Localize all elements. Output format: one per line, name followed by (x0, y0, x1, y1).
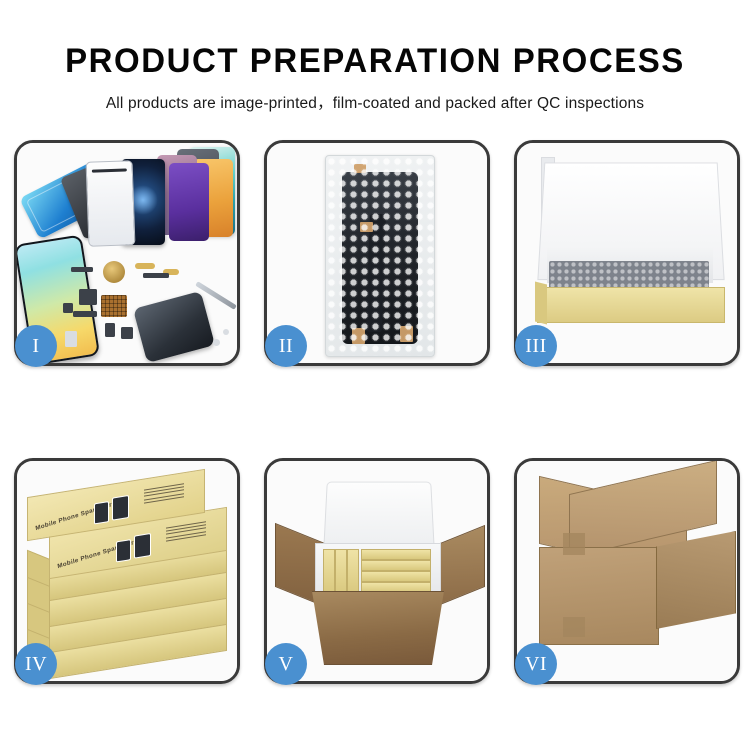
page-subtitle: All products are image-printed，film-coat… (0, 91, 750, 113)
sim-tray-part (65, 331, 77, 347)
flex-cable-part (71, 267, 93, 272)
process-step-4[interactable]: Mobile Phone Spare Parts Mobile Phone Sp… (14, 458, 240, 684)
carton-tape-seam (563, 617, 585, 637)
step-badge-2: II (265, 325, 307, 367)
bubble-texture (326, 156, 434, 356)
speaker-part (103, 261, 125, 283)
packed-box (361, 571, 431, 582)
carton-front-face (539, 547, 659, 645)
process-step-2[interactable]: II (264, 140, 490, 366)
packed-box (347, 549, 359, 595)
page-header: PRODUCT PREPARATION PROCESS All products… (0, 0, 750, 113)
process-step-5[interactable]: V (264, 458, 490, 684)
box-base-side (535, 282, 547, 325)
step-badge-6: VI (515, 643, 557, 685)
phone-back-housing (133, 291, 215, 363)
packed-box (361, 549, 431, 560)
phone-screen-white (86, 160, 136, 247)
process-step-6[interactable]: VI (514, 458, 740, 684)
carton-tape-seam (563, 533, 585, 555)
screw-part (213, 339, 220, 346)
page-title: PRODUCT PREPARATION PROCESS (11, 44, 739, 78)
antenna-part (143, 273, 169, 278)
bubble-wrap-bag (325, 155, 435, 357)
camera-module-part (79, 289, 97, 305)
process-step-1[interactable]: I (14, 140, 240, 366)
box-label-lines (166, 521, 206, 543)
step-badge-3: III (515, 325, 557, 367)
box-label-phone-image (94, 501, 109, 524)
step-badge-5: V (265, 643, 307, 685)
process-grid: I II III (14, 140, 736, 684)
process-step-3[interactable]: III (514, 140, 740, 366)
packed-box (361, 560, 431, 571)
screw-part (223, 329, 229, 335)
box-label-lines (144, 483, 184, 505)
packed-box (323, 549, 335, 595)
connector-part (135, 263, 155, 269)
carton-body (303, 591, 453, 665)
step-badge-1: I (15, 325, 57, 367)
flex-cable-part (73, 311, 97, 317)
phone-screen-purple (169, 163, 209, 241)
box-label-phone-image (116, 539, 131, 562)
screw-part (63, 303, 73, 313)
logic-board-part (101, 295, 127, 317)
vibrator-part (121, 327, 133, 339)
box-base (537, 287, 725, 323)
packed-box (335, 549, 347, 595)
carton-side-face (656, 531, 736, 629)
step-badge-4: IV (15, 643, 57, 685)
box-label-phone-image (134, 533, 151, 559)
button-part (105, 323, 115, 337)
box-label-phone-image (112, 495, 129, 521)
